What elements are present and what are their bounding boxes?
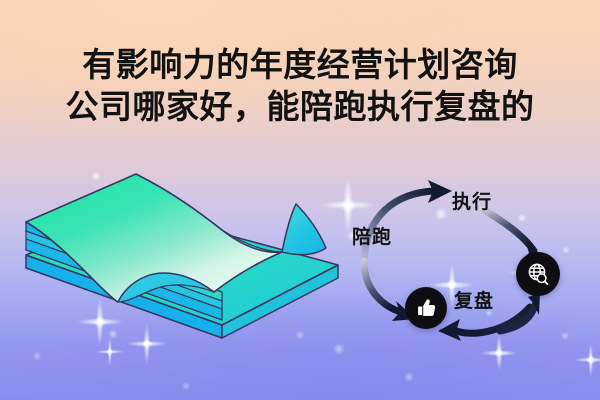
poster-canvas: 有影响力的年度经营计划咨询 公司哪家好，能陪跑执行复盘的 (0, 0, 600, 400)
process-cycle-diagram: 陪跑 执行 复盘 (330, 165, 600, 355)
cycle-label-peipao: 陪跑 (352, 222, 392, 249)
cycle-label-fupan: 复盘 (454, 286, 494, 313)
paper-curl-flap (282, 204, 326, 255)
node-globe-search (516, 252, 560, 296)
node-thumbs-up (405, 287, 447, 329)
stacked-paper-illustration (8, 160, 348, 360)
cycle-label-zhixing: 执行 (452, 187, 492, 214)
arrow-zhixing (482, 209, 534, 251)
poster-title: 有影响力的年度经营计划咨询 公司哪家好，能陪跑执行复盘的 (0, 44, 600, 128)
globe-search-icon (525, 261, 551, 287)
title-line-1: 有影响力的年度经营计划咨询 (0, 44, 600, 86)
title-line-2: 公司哪家好，能陪跑执行复盘的 (0, 86, 600, 128)
thumbs-up-icon (414, 296, 438, 320)
